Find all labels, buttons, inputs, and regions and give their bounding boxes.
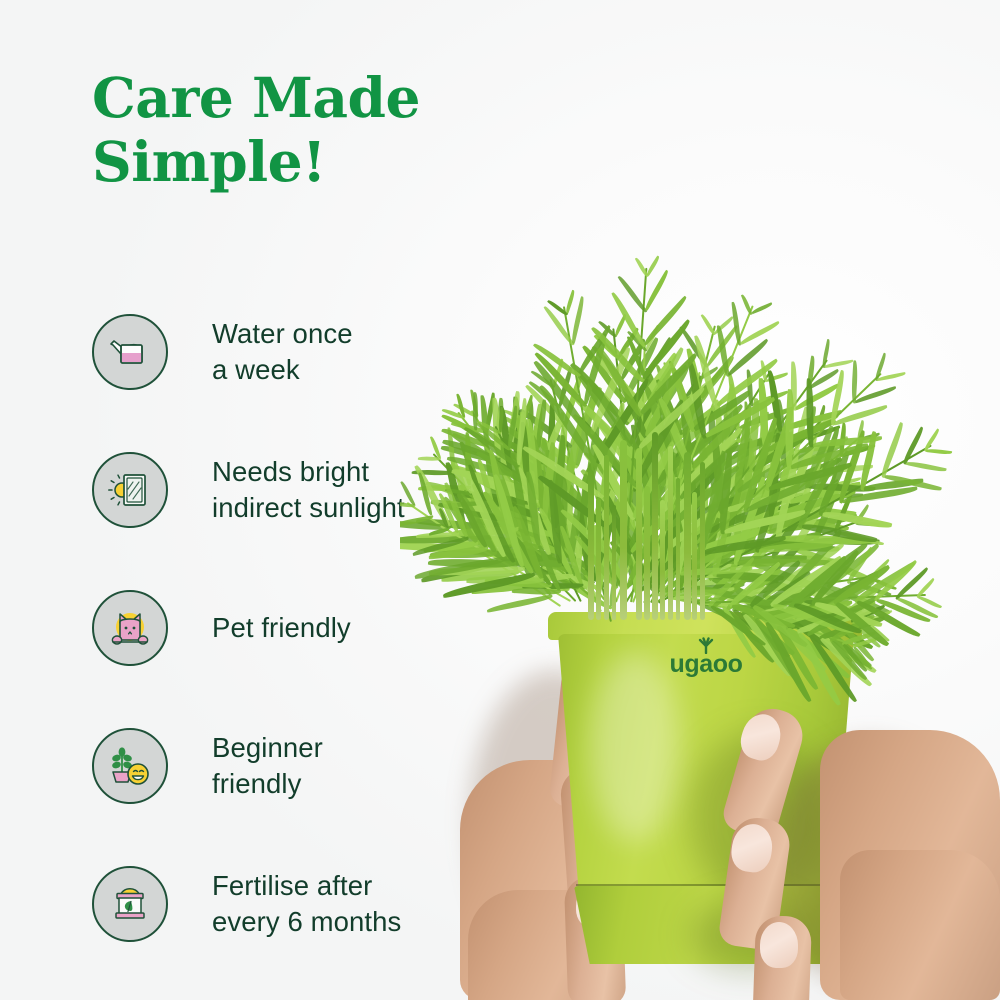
palm-leaflet <box>926 448 952 455</box>
care-item-label: Fertilise after every 6 months <box>212 868 401 940</box>
palm-stem <box>612 505 616 620</box>
palm-stem <box>684 452 691 620</box>
palm-stem <box>644 486 650 620</box>
palm-stem <box>596 498 601 620</box>
care-item-label: Water once a week <box>212 316 353 388</box>
care-item-sunlight: Needs bright indirect sunlight <box>92 452 405 528</box>
care-item-pet-friendly: Pet friendly <box>92 590 351 666</box>
palm-leaflet <box>731 302 741 346</box>
palm-stem <box>668 446 673 620</box>
palm-stem <box>636 448 642 620</box>
palm-stem <box>652 432 658 620</box>
palm-leaflet <box>645 255 660 276</box>
sun-window-icon <box>92 452 168 528</box>
watering-can-icon <box>92 314 168 390</box>
fertiliser-bag-icon <box>92 866 168 942</box>
palm-stem <box>604 455 609 620</box>
palm-leaflet <box>879 422 906 478</box>
care-item-water: Water once a week <box>92 314 353 390</box>
palm-leaflet <box>564 289 576 313</box>
care-item-label: Pet friendly <box>212 610 351 646</box>
palm-leaflet <box>901 427 925 465</box>
palm-leaflet <box>905 460 946 473</box>
right-hand <box>730 700 990 1000</box>
sprout-icon <box>693 632 719 661</box>
palm-leaflet <box>486 594 553 613</box>
palm-leaflet <box>824 360 853 369</box>
palm-stem <box>676 478 680 620</box>
page-title: Care Made Simple! <box>92 66 512 194</box>
palm-stem <box>660 500 665 620</box>
palm-stem <box>588 470 594 620</box>
palm-leaflet <box>855 386 898 404</box>
plant-smiley-icon <box>92 728 168 804</box>
palm-stem <box>692 492 697 620</box>
infographic-canvas: ugaoo Care Made Simple! <box>0 0 1000 1000</box>
care-item-fertilise: Fertilise after every 6 months <box>92 866 401 942</box>
care-item-beginner-friendly: Beginner friendly <box>92 728 323 804</box>
palm-leaflet <box>806 379 814 448</box>
palm-leaflet <box>751 302 773 314</box>
cat-face-icon <box>92 590 168 666</box>
care-item-label: Needs bright indirect sunlight <box>212 454 405 526</box>
palm-stem <box>700 462 705 620</box>
palm-leaflet <box>570 296 586 344</box>
care-item-label: Beginner friendly <box>212 730 323 802</box>
palm-stem <box>620 440 627 620</box>
